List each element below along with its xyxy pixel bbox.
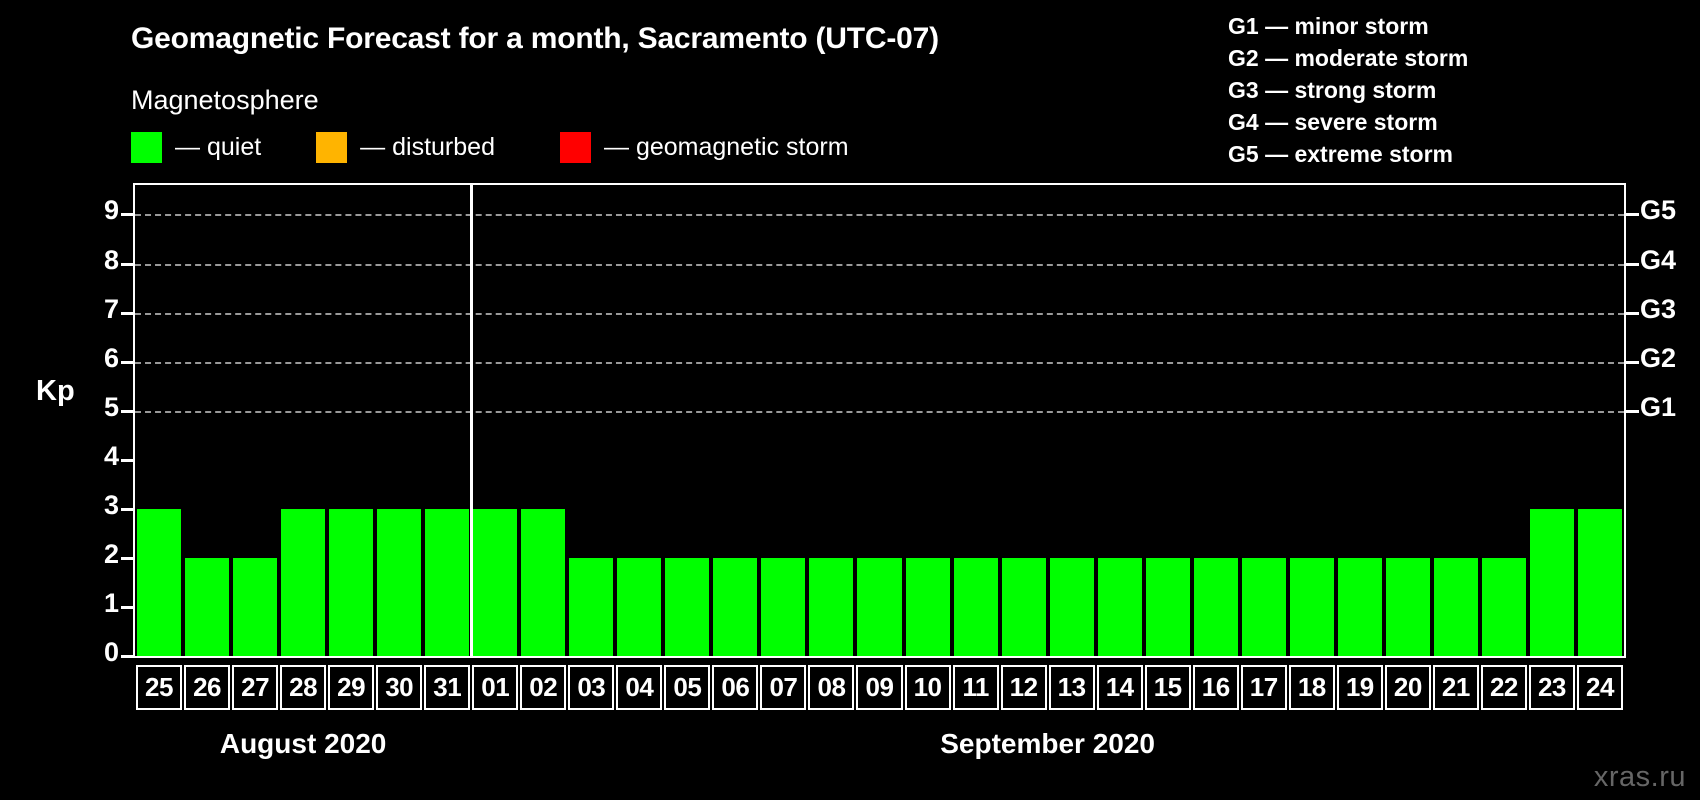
- y-tick-label-0: 0: [73, 637, 119, 668]
- day-label-03[interactable]: 03: [568, 665, 614, 710]
- month-caption-august: August 2020: [220, 728, 387, 760]
- watermark: xras.ru: [1594, 761, 1686, 794]
- section-label-magnetosphere: Magnetosphere: [131, 85, 319, 116]
- g-tick-mark-G4: [1626, 263, 1639, 266]
- bar-day-14[interactable]: [1098, 558, 1142, 656]
- red-swatch-icon: [560, 132, 591, 163]
- month-caption-september: September 2020: [940, 728, 1155, 760]
- y-tick-label-7: 7: [73, 294, 119, 325]
- day-label-25[interactable]: 25: [136, 665, 182, 710]
- y-axis-title: Kp: [36, 375, 75, 408]
- bar-day-27[interactable]: [233, 558, 277, 656]
- bar-day-07[interactable]: [761, 558, 805, 656]
- g-tick-label-G1: G1: [1640, 392, 1676, 423]
- day-label-02[interactable]: 02: [520, 665, 566, 710]
- bar-day-03[interactable]: [569, 558, 613, 656]
- g-tick-mark-G5: [1626, 213, 1639, 216]
- bar-day-11[interactable]: [954, 558, 998, 656]
- storm-scale-row-g3: G3 — strong storm: [1228, 74, 1468, 106]
- bar-day-09[interactable]: [857, 558, 901, 656]
- bar-day-21[interactable]: [1434, 558, 1478, 656]
- y-tick-label-3: 3: [73, 490, 119, 521]
- page-title: Geomagnetic Forecast for a month, Sacram…: [131, 22, 939, 56]
- bar-day-16[interactable]: [1194, 558, 1238, 656]
- chart-inner: [135, 185, 1624, 656]
- storm-scale-row-g4: G4 — severe storm: [1228, 106, 1468, 138]
- legend-label-storm: — geomagnetic storm: [604, 133, 849, 162]
- bar-day-10[interactable]: [906, 558, 950, 656]
- day-label-20[interactable]: 20: [1385, 665, 1431, 710]
- g-tick-label-G5: G5: [1640, 195, 1676, 226]
- storm-scale-row-g1: G1 — minor storm: [1228, 10, 1468, 42]
- day-label-26[interactable]: 26: [184, 665, 230, 710]
- storm-scale-legend: G1 — minor storm G2 — moderate storm G3 …: [1228, 10, 1468, 170]
- bar-day-17[interactable]: [1242, 558, 1286, 656]
- day-label-09[interactable]: 09: [856, 665, 902, 710]
- day-label-15[interactable]: 15: [1145, 665, 1191, 710]
- day-label-31[interactable]: 31: [424, 665, 470, 710]
- y-tick-label-4: 4: [73, 441, 119, 472]
- day-label-04[interactable]: 04: [616, 665, 662, 710]
- g-tick-mark-G1: [1626, 410, 1639, 413]
- bar-series: [135, 185, 1624, 656]
- chart-plot-area: [133, 183, 1626, 658]
- day-label-11[interactable]: 11: [953, 665, 999, 710]
- bar-day-15[interactable]: [1146, 558, 1190, 656]
- legend: — quiet — disturbed — geomagnetic storm: [131, 130, 849, 164]
- g-tick-mark-G2: [1626, 361, 1639, 364]
- day-label-06[interactable]: 06: [712, 665, 758, 710]
- bar-day-23[interactable]: [1530, 509, 1574, 656]
- y-tick-label-5: 5: [73, 392, 119, 423]
- day-label-24[interactable]: 24: [1577, 665, 1623, 710]
- bar-day-12[interactable]: [1002, 558, 1046, 656]
- legend-label-disturbed: — disturbed: [360, 133, 495, 162]
- day-label-16[interactable]: 16: [1193, 665, 1239, 710]
- bar-day-29[interactable]: [329, 509, 373, 656]
- bar-day-18[interactable]: [1290, 558, 1334, 656]
- bar-day-20[interactable]: [1386, 558, 1430, 656]
- day-label-10[interactable]: 10: [905, 665, 951, 710]
- y-tick-label-8: 8: [73, 245, 119, 276]
- bar-day-04[interactable]: [617, 558, 661, 656]
- g-tick-label-G3: G3: [1640, 294, 1676, 325]
- y-tick-label-1: 1: [73, 588, 119, 619]
- day-label-27[interactable]: 27: [232, 665, 278, 710]
- day-label-13[interactable]: 13: [1049, 665, 1095, 710]
- g-tick-mark-G3: [1626, 312, 1639, 315]
- day-label-21[interactable]: 21: [1433, 665, 1479, 710]
- day-label-14[interactable]: 14: [1097, 665, 1143, 710]
- day-label-28[interactable]: 28: [280, 665, 326, 710]
- legend-item-disturbed: — disturbed: [316, 132, 495, 163]
- orange-swatch-icon: [316, 132, 347, 163]
- day-label-01[interactable]: 01: [472, 665, 518, 710]
- storm-scale-row-g2: G2 — moderate storm: [1228, 42, 1468, 74]
- day-label-19[interactable]: 19: [1337, 665, 1383, 710]
- bar-day-06[interactable]: [713, 558, 757, 656]
- g-tick-label-G4: G4: [1640, 245, 1676, 276]
- day-label-07[interactable]: 07: [760, 665, 806, 710]
- bar-day-08[interactable]: [809, 558, 853, 656]
- green-swatch-icon: [131, 132, 162, 163]
- bar-day-13[interactable]: [1050, 558, 1094, 656]
- g-tick-label-G2: G2: [1640, 343, 1676, 374]
- bar-day-22[interactable]: [1482, 558, 1526, 656]
- storm-scale-row-g5: G5 — extreme storm: [1228, 138, 1468, 170]
- day-label-12[interactable]: 12: [1001, 665, 1047, 710]
- legend-label-quiet: — quiet: [175, 133, 261, 162]
- day-label-30[interactable]: 30: [376, 665, 422, 710]
- y-tick-label-9: 9: [73, 195, 119, 226]
- bar-day-02[interactable]: [521, 509, 565, 656]
- bar-day-28[interactable]: [281, 509, 325, 656]
- month-divider: [470, 185, 473, 656]
- day-label-22[interactable]: 22: [1481, 665, 1527, 710]
- bar-day-05[interactable]: [665, 558, 709, 656]
- day-label-17[interactable]: 17: [1241, 665, 1287, 710]
- day-label-08[interactable]: 08: [808, 665, 854, 710]
- day-label-23[interactable]: 23: [1529, 665, 1575, 710]
- legend-item-storm: — geomagnetic storm: [560, 132, 849, 163]
- bar-day-24[interactable]: [1578, 509, 1622, 656]
- bar-day-26[interactable]: [185, 558, 229, 656]
- bar-day-01[interactable]: [473, 509, 517, 656]
- y-tick-label-6: 6: [73, 343, 119, 374]
- day-label-05[interactable]: 05: [664, 665, 710, 710]
- y-tick-label-2: 2: [73, 539, 119, 570]
- bar-day-31[interactable]: [425, 509, 469, 656]
- legend-item-quiet: — quiet: [131, 132, 261, 163]
- bar-day-19[interactable]: [1338, 558, 1382, 656]
- bar-day-25[interactable]: [137, 509, 181, 656]
- day-label-18[interactable]: 18: [1289, 665, 1335, 710]
- bar-day-30[interactable]: [377, 509, 421, 656]
- x-axis-day-labels: 2526272829303101020304050607080910111213…: [133, 665, 1626, 710]
- day-label-29[interactable]: 29: [328, 665, 374, 710]
